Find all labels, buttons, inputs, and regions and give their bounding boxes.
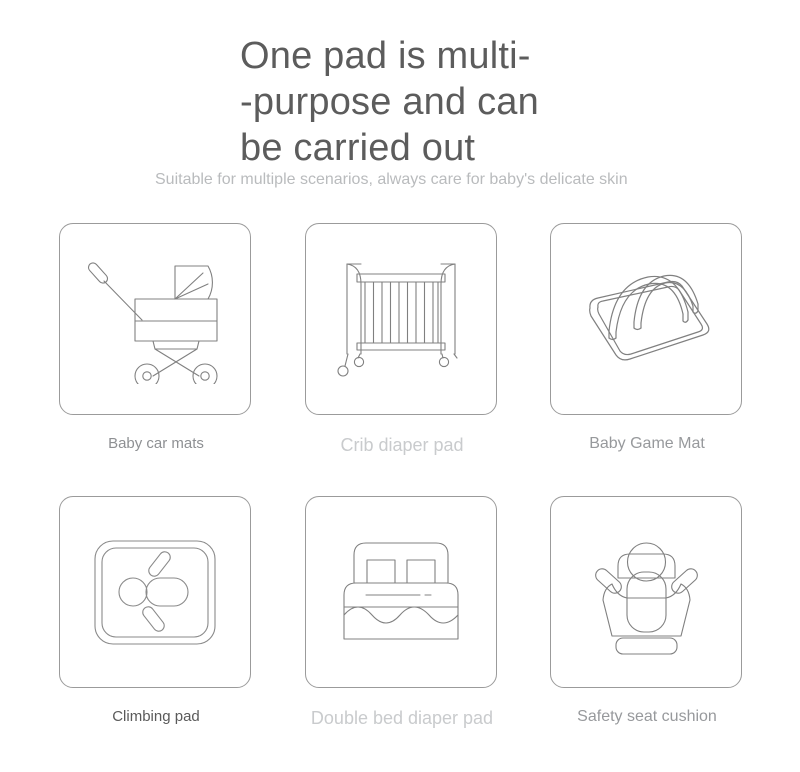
scenario-row-1: Baby car mats xyxy=(0,223,800,496)
page-title-line-1: One pad is multi- xyxy=(240,35,531,77)
page-title: One pad is multi- -purpose and can be ca… xyxy=(240,33,720,171)
scenario-label: Double bed diaper pad xyxy=(305,708,499,729)
page-title-line-2: -purpose and can xyxy=(240,81,539,123)
scenario-card[interactable] xyxy=(550,496,742,688)
scenario-grid: Baby car mats xyxy=(0,223,800,769)
scenario-card[interactable] xyxy=(59,223,251,415)
scenario-item-baby-game-mat[interactable]: Baby Game Mat xyxy=(550,223,744,453)
climbing-pad-icon xyxy=(90,535,220,650)
page-subtitle: Suitable for multiple scenarios, always … xyxy=(155,168,660,192)
baby-stroller-icon xyxy=(85,254,225,384)
scenario-label: Crib diaper pad xyxy=(305,435,499,456)
scenario-label: Baby car mats xyxy=(59,435,253,452)
tote-bag-icon xyxy=(576,254,716,384)
crib-icon xyxy=(331,254,471,384)
scenario-card[interactable] xyxy=(305,496,497,688)
scenario-card[interactable] xyxy=(305,223,497,415)
scenario-label: Baby Game Mat xyxy=(550,435,744,453)
scenario-item-crib-diaper-pad[interactable]: Crib diaper pad xyxy=(305,223,499,456)
page-title-line-3: be carried out xyxy=(240,127,475,169)
scenario-item-baby-car-mats[interactable]: Baby car mats xyxy=(59,223,253,452)
scenario-label: Climbing pad xyxy=(59,708,253,725)
safety-seat-icon xyxy=(584,530,709,655)
scenario-item-safety-seat-cushion[interactable]: Safety seat cushion xyxy=(550,496,744,726)
promo-page: One pad is multi- -purpose and can be ca… xyxy=(0,0,800,772)
scenario-item-double-bed-diaper-pad[interactable]: Double bed diaper pad xyxy=(305,496,499,729)
scenario-row-2: Climbing pad xyxy=(0,496,800,769)
double-bed-icon xyxy=(336,537,466,647)
scenario-item-climbing-pad[interactable]: Climbing pad xyxy=(59,496,253,725)
scenario-card[interactable] xyxy=(550,223,742,415)
scenario-label: Safety seat cushion xyxy=(550,708,744,726)
scenario-card[interactable] xyxy=(59,496,251,688)
